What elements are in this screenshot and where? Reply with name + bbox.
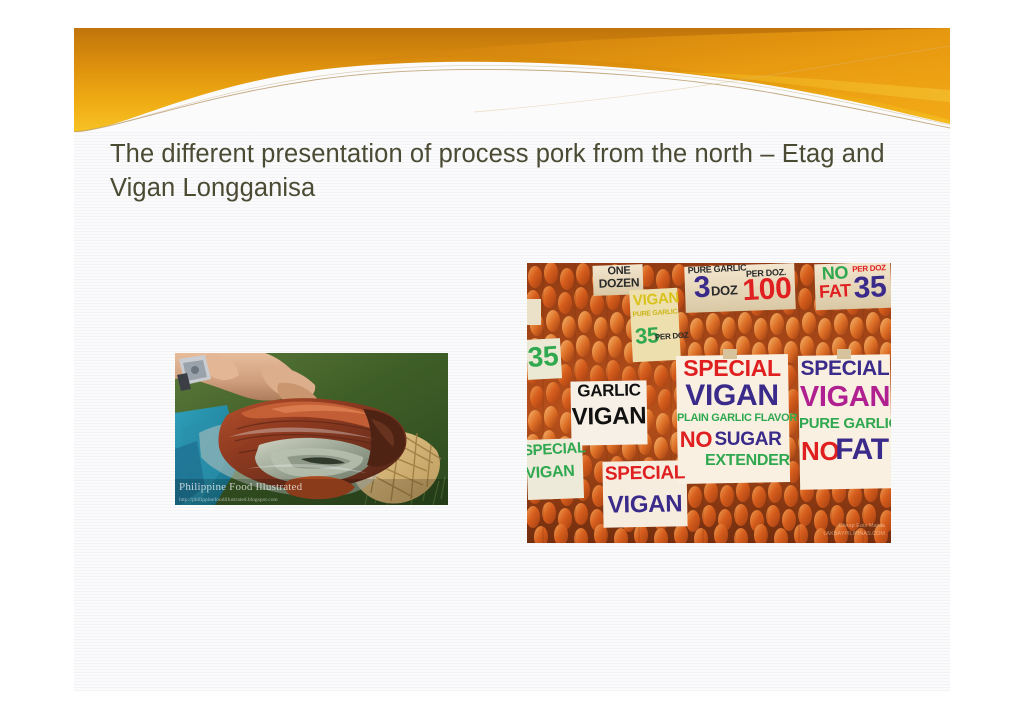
page-title: The different presentation of process po… [110,138,910,206]
slide-title-text: The different presentation of process po… [110,138,910,206]
presentation-slide: The different presentation of process po… [74,28,950,691]
image-etag-cured-pork: Philippine Food Illustrated http://phili… [175,353,448,505]
slide-header-banner [74,28,950,132]
image-vigan-longganisa-market: ONE DOZEN VIGAN PURE GARLIC 35 PER DOZ P… [527,263,891,543]
screenshot-canvas: The different presentation of process po… [0,0,1024,724]
